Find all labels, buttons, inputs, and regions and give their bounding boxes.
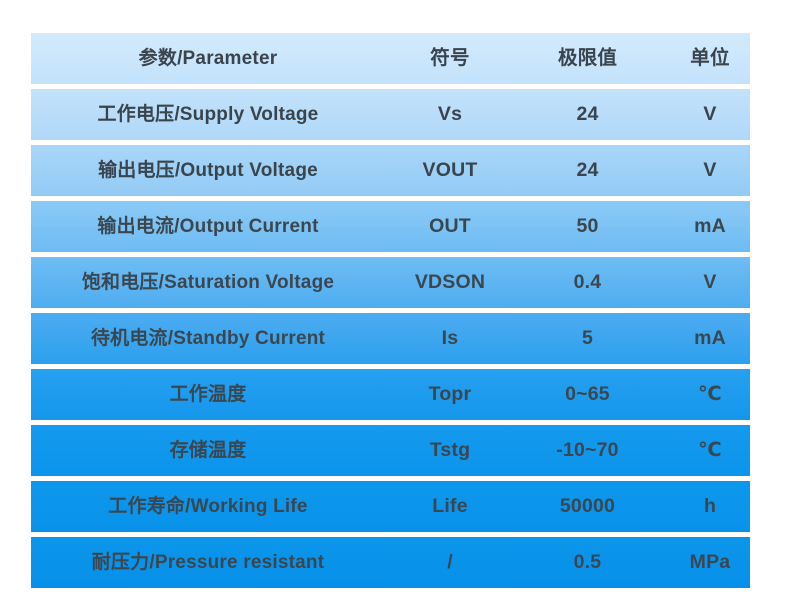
cell-unit: mA [665, 313, 755, 364]
column-header-symbol: 符号 [390, 33, 510, 84]
cell-parameter: 输出电压/Output Voltage [31, 145, 385, 196]
cell-unit: ℃ [665, 425, 755, 476]
cell-parameter: 存储温度 [31, 425, 385, 476]
table-row: 工作电压/Supply VoltageVs24V [31, 89, 750, 140]
cell-limit: 50000 [515, 481, 660, 532]
cell-limit: 0.4 [515, 257, 660, 308]
table-header-row: 参数/Parameter符号极限值单位 [31, 33, 750, 84]
cell-limit: 24 [515, 145, 660, 196]
cell-symbol: Life [390, 481, 510, 532]
column-header-limit: 极限值 [515, 33, 660, 84]
cell-parameter: 耐压力/Pressure resistant [31, 537, 385, 588]
cell-symbol: Topr [390, 369, 510, 420]
cell-limit: 5 [515, 313, 660, 364]
cell-parameter: 待机电流/Standby Current [31, 313, 385, 364]
cell-unit: V [665, 257, 755, 308]
table-row: 输出电压/Output VoltageVOUT24V [31, 145, 750, 196]
cell-symbol: OUT [390, 201, 510, 252]
cell-parameter: 工作电压/Supply Voltage [31, 89, 385, 140]
cell-unit: V [665, 89, 755, 140]
column-header-parameter: 参数/Parameter [31, 33, 385, 84]
table-row: 耐压力/Pressure resistant/0.5MPa [31, 537, 750, 588]
cell-parameter: 输出电流/Output Current [31, 201, 385, 252]
cell-symbol: / [390, 537, 510, 588]
cell-limit: 50 [515, 201, 660, 252]
cell-limit: -10~70 [515, 425, 660, 476]
cell-symbol: Tstg [390, 425, 510, 476]
table-row: 工作寿命/Working LifeLife50000h [31, 481, 750, 532]
cell-parameter: 饱和电压/Saturation Voltage [31, 257, 385, 308]
table-row: 工作温度Topr0~65℃ [31, 369, 750, 420]
cell-limit: 0~65 [515, 369, 660, 420]
table-row: 存储温度Tstg-10~70℃ [31, 425, 750, 476]
cell-symbol: VOUT [390, 145, 510, 196]
cell-unit: h [665, 481, 755, 532]
cell-limit: 24 [515, 89, 660, 140]
cell-symbol: Is [390, 313, 510, 364]
cell-unit: V [665, 145, 755, 196]
parameter-specification-table: 参数/Parameter符号极限值单位工作电压/Supply VoltageVs… [31, 33, 750, 545]
cell-parameter: 工作温度 [31, 369, 385, 420]
cell-symbol: VDSON [390, 257, 510, 308]
cell-parameter: 工作寿命/Working Life [31, 481, 385, 532]
column-header-unit: 单位 [665, 33, 755, 84]
table-row: 待机电流/Standby CurrentIs5mA [31, 313, 750, 364]
table-row: 输出电流/Output CurrentOUT50mA [31, 201, 750, 252]
cell-unit: ℃ [665, 369, 755, 420]
cell-symbol: Vs [390, 89, 510, 140]
cell-unit: MPa [665, 537, 755, 588]
table-row: 饱和电压/Saturation VoltageVDSON0.4V [31, 257, 750, 308]
cell-unit: mA [665, 201, 755, 252]
cell-limit: 0.5 [515, 537, 660, 588]
